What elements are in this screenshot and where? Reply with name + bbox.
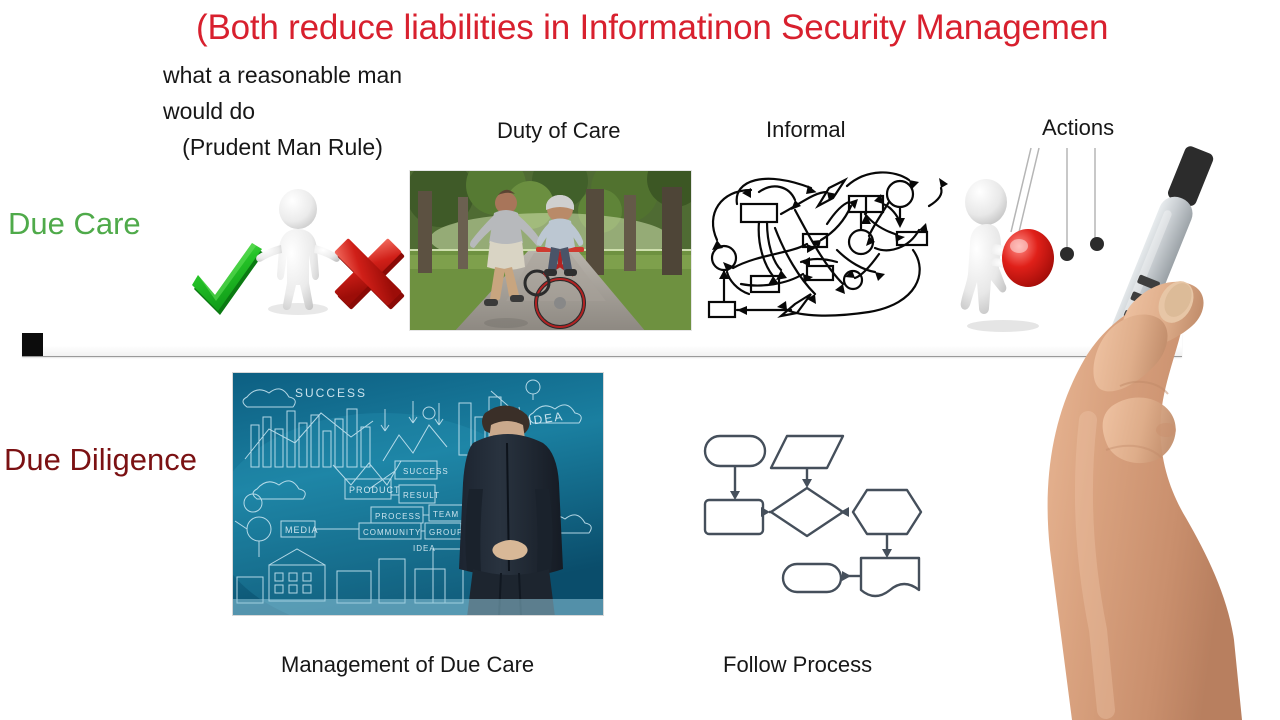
page-title: (Both reduce liabilities in Informatinon…	[196, 6, 1280, 50]
svg-text:TEAM: TEAM	[433, 510, 459, 519]
svg-text:RESULT: RESULT	[403, 491, 440, 500]
divider-handle-icon[interactable]	[22, 333, 43, 356]
flow-terminator-end	[783, 564, 841, 592]
due-care-decision-illustration	[182, 183, 408, 331]
clean-process-flowchart	[683, 424, 938, 609]
caption-informal: Informal	[766, 117, 845, 143]
whiteboard-slide: (Both reduce liabilities in Informatinon…	[0, 0, 1280, 720]
father-teaching-child-bicycle-photo	[409, 170, 692, 331]
svg-text:PROCESS: PROCESS	[375, 512, 421, 521]
row-divider-bar[interactable]	[22, 333, 1182, 357]
red-x-icon	[332, 238, 404, 310]
row-label-due-diligence: Due Diligence	[4, 442, 197, 478]
flow-decision-diamond	[771, 488, 843, 536]
caption-actions: Actions	[1042, 115, 1114, 141]
actions-newton-cradle-illustration	[943, 140, 1118, 335]
caption-prudent-man-rule: what a reasonable man would do (Prudent …	[163, 57, 402, 165]
caption-follow-process: Follow Process	[723, 652, 872, 678]
messy-hand-drawn-flowchart	[703, 158, 946, 333]
flow-document-shape	[861, 558, 919, 596]
svg-text:MEDIA: MEDIA	[285, 525, 319, 535]
flow-preparation-hexagon	[853, 490, 921, 534]
svg-text:IDEA: IDEA	[413, 544, 436, 553]
svg-text:SUCCESS: SUCCESS	[403, 467, 449, 476]
caption-duty-of-care: Duty of Care	[497, 118, 621, 144]
caption-management-of-due-care: Management of Due Care	[281, 652, 534, 678]
svg-text:SUCCESS: SUCCESS	[295, 386, 367, 400]
svg-text:PRODUCT: PRODUCT	[349, 485, 401, 495]
svg-text:COMMUNITY: COMMUNITY	[363, 528, 421, 537]
flow-process-box	[705, 500, 763, 534]
flow-terminator-start	[705, 436, 765, 466]
row-label-due-care: Due Care	[8, 206, 141, 242]
svg-text:GROUP: GROUP	[429, 528, 463, 537]
flow-input-parallelogram	[771, 436, 843, 468]
businessman-strategy-board-photo: SUCCESS IDEA PRODUCT SUCCESS RESULT PROC…	[232, 372, 604, 616]
